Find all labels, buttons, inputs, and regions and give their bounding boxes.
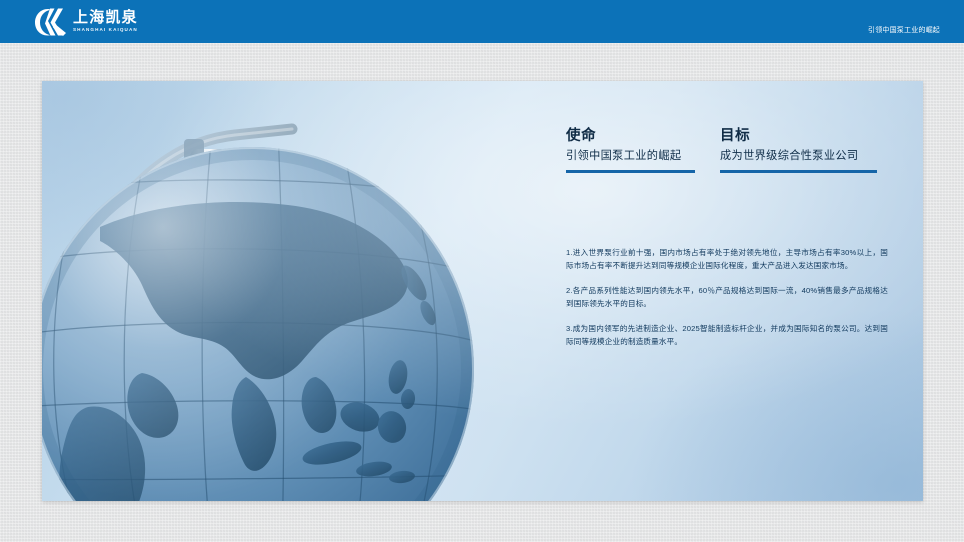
- kq-monogram-icon: [33, 7, 67, 37]
- top-header-bar: 上海凯泉 SHANGHAI KAIQUAN 引领中国泵工业的崛起: [0, 0, 964, 43]
- goal-subtitle: 成为世界级综合性泵业公司: [720, 150, 910, 163]
- brand-wordmark: 上海凯泉 SHANGHAI KAIQUAN: [73, 10, 138, 32]
- body-paragraphs: 1.进入世界泵行业前十强，国内市场占有率处于绝对领先地位，主导市场占有率30%以…: [566, 246, 888, 348]
- mission-subtitle: 引领中国泵工业的崛起: [566, 150, 716, 163]
- goal-underline: [720, 170, 877, 173]
- mission-underline: [566, 170, 695, 173]
- paragraph-1: 1.进入世界泵行业前十强，国内市场占有率处于绝对领先地位，主导市场占有率30%以…: [566, 246, 888, 272]
- brand-logo[interactable]: 上海凯泉 SHANGHAI KAIQUAN: [33, 6, 138, 37]
- goal-title: 目标: [720, 128, 910, 145]
- paragraph-3: 3.成为国内领军的先进制造企业、2025智能制造标杆企业，并成为国际知名的泵公司…: [566, 322, 888, 348]
- mission-title: 使命: [566, 128, 716, 145]
- globe-image: [42, 81, 550, 501]
- brand-name-en: SHANGHAI KAIQUAN: [73, 28, 138, 33]
- brand-name-cn: 上海凯泉: [73, 10, 138, 25]
- slide-canvas: 使命 引领中国泵工业的崛起 目标 成为世界级综合性泵业公司 1.进入世界泵行业前…: [42, 81, 923, 501]
- paragraph-2: 2.各产品系列性能达到国内领先水平，60％产品规格达到国际一流，40%销售最多产…: [566, 284, 888, 310]
- heading-block-mission: 使命 引领中国泵工业的崛起: [566, 128, 716, 173]
- header-tagline: 引领中国泵工业的崛起: [868, 25, 940, 35]
- slide-content-column: 使命 引领中国泵工业的崛起 目标 成为世界级综合性泵业公司 1.进入世界泵行业前…: [524, 81, 923, 501]
- heading-block-goal: 目标 成为世界级综合性泵业公司: [720, 128, 910, 173]
